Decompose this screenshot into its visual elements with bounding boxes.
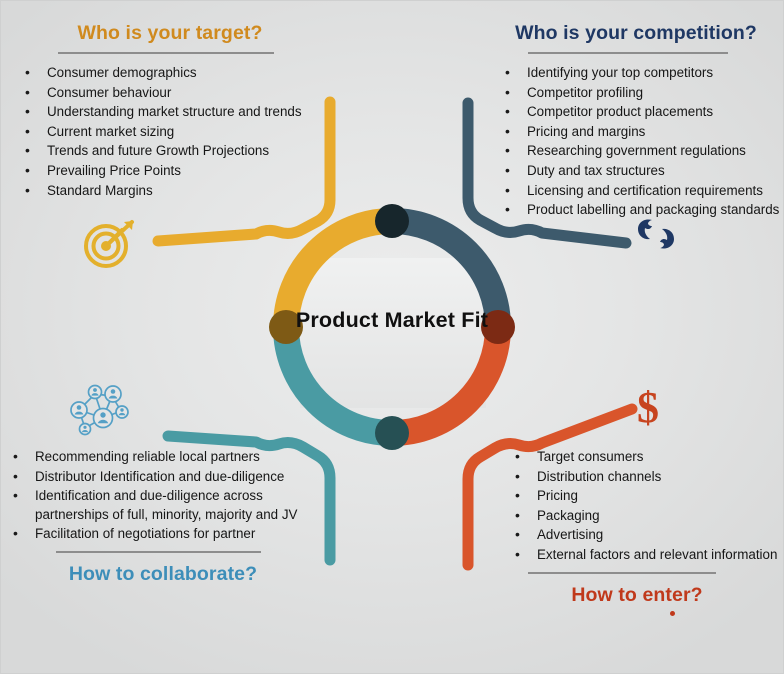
list-item: Facilitation of negotiations for partner [8, 525, 318, 544]
list-item: External factors and relevant informatio… [510, 546, 784, 565]
list-item: Current market sizing [20, 123, 320, 142]
title-rule [58, 52, 274, 54]
list-item: Competitor profiling [500, 84, 784, 103]
list-item: Identification and due-diligence across … [8, 487, 318, 524]
quadrant-target-bullets: Consumer demographics Consumer behaviour… [20, 64, 320, 200]
quadrant-enter-title: How to enter? [510, 584, 784, 607]
quadrant-target-title: Who is your target? [20, 22, 320, 45]
dollar-sign-icon: $ [637, 386, 659, 430]
list-item: Standard Margins [20, 182, 320, 201]
quadrant-collaborate: Recommending reliable local partners Dis… [8, 448, 318, 586]
list-item: Competitor product placements [500, 103, 784, 122]
list-item: Consumer demographics [20, 64, 320, 83]
quadrant-competition: Who is your competition? Identifying you… [500, 22, 784, 221]
list-item: Pricing [510, 487, 784, 506]
quadrant-target: Who is your target? Consumer demographic… [20, 22, 320, 201]
quadrant-collaborate-title: How to collaborate? [8, 563, 318, 586]
infographic-canvas: Product Market Fit [0, 0, 784, 674]
quadrant-competition-bullets: Identifying your top competitors Competi… [500, 64, 784, 220]
list-item: Prevailing Price Points [20, 162, 320, 181]
list-item: Packaging [510, 507, 784, 526]
donut-junction-dot-top [375, 204, 409, 238]
list-item: Duty and tax structures [500, 162, 784, 181]
list-item: Trends and future Growth Projections [20, 142, 320, 161]
title-rule [528, 572, 716, 574]
list-item: Licensing and certification requirements [500, 182, 784, 201]
list-item: Consumer behaviour [20, 84, 320, 103]
list-item: Understanding market structure and trend… [20, 103, 320, 122]
people-network-icon [66, 378, 132, 445]
list-item: Recommending reliable local partners [8, 448, 318, 467]
center-plate [300, 258, 486, 408]
quadrant-enter-bullets: Target consumers Distribution channels P… [510, 448, 784, 565]
center-label: Product Market Fit [266, 308, 518, 333]
list-item: Distributor Identification and due-dilig… [8, 468, 318, 487]
quadrant-competition-title: Who is your competition? [500, 22, 784, 45]
list-item: Advertising [510, 526, 784, 545]
two-fish-icon [632, 214, 680, 259]
list-item: Pricing and margins [500, 123, 784, 142]
list-item: Researching government regulations [500, 142, 784, 161]
list-item: Distribution channels [510, 468, 784, 487]
list-item: Target consumers [510, 448, 784, 467]
quadrant-collaborate-bullets: Recommending reliable local partners Dis… [8, 448, 318, 544]
list-item: Identifying your top competitors [500, 64, 784, 83]
target-icon [78, 212, 142, 281]
donut-junction-dot-bottom [375, 416, 409, 450]
title-rule [528, 52, 728, 54]
decorative-dot [670, 611, 675, 616]
quadrant-enter: Target consumers Distribution channels P… [510, 448, 784, 607]
title-rule [56, 551, 261, 553]
